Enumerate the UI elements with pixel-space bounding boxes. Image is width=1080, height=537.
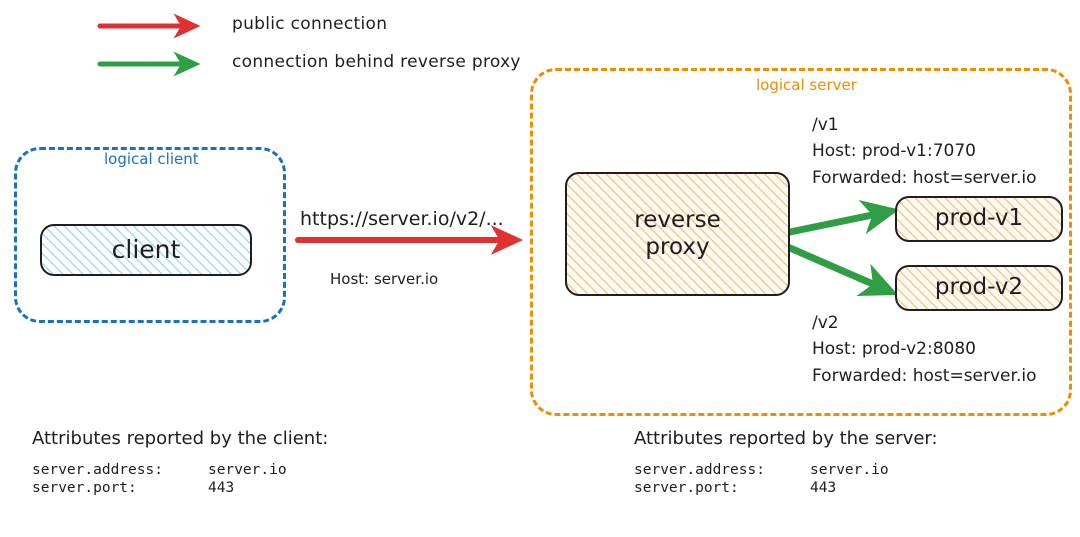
node-prod-v2[interactable]: prod-v2 <box>895 265 1063 311</box>
table-row: server.port: 443 <box>32 479 287 497</box>
public-request-url: https://server.io/v2/... <box>300 208 504 230</box>
route-v2-forwarded: Forwarded: host=server.io <box>812 363 1036 389</box>
route-v2-host: Host: prod-v2:8080 <box>812 336 1036 362</box>
route-v1-forwarded: Forwarded: host=server.io <box>812 165 1036 191</box>
client-attr-value-1: 443 <box>208 479 287 497</box>
table-row: server.port: 443 <box>634 479 889 497</box>
table-row: server.address: server.io <box>634 461 889 479</box>
diagram-canvas: public connection connection behind reve… <box>0 0 1080 537</box>
route-v1-path: /v1 <box>812 112 1036 138</box>
server-attr-key-0: server.address: <box>634 461 810 479</box>
legend-label-public-connection: public connection <box>232 14 387 34</box>
client-attributes-block: Attributes reported by the client: serve… <box>32 428 328 497</box>
legend-label-behind-proxy: connection behind reverse proxy <box>232 52 521 72</box>
node-reverse-proxy-label-line2: proxy <box>645 234 709 261</box>
node-reverse-proxy-label-line1: reverse <box>634 207 720 234</box>
route-v2-annotation: /v2 Host: prod-v2:8080 Forwarded: host=s… <box>812 310 1036 389</box>
client-attributes-title: Attributes reported by the client: <box>32 428 328 449</box>
public-request-host-header: Host: server.io <box>330 270 438 288</box>
client-attr-key-0: server.address: <box>32 461 208 479</box>
node-prod-v2-label: prod-v2 <box>935 274 1023 301</box>
server-attributes-title: Attributes reported by the server: <box>634 428 938 449</box>
table-row: server.address: server.io <box>32 461 287 479</box>
route-v1-host: Host: prod-v1:7070 <box>812 138 1036 164</box>
node-client-label: client <box>112 235 181 265</box>
node-reverse-proxy[interactable]: reverse proxy <box>565 172 790 296</box>
logical-server-group-title: logical server <box>748 76 865 94</box>
server-attr-value-1: 443 <box>810 479 889 497</box>
node-prod-v1-label: prod-v1 <box>935 205 1023 232</box>
node-client[interactable]: client <box>40 224 252 276</box>
client-attr-key-1: server.port: <box>32 479 208 497</box>
server-attr-value-0: server.io <box>810 461 889 479</box>
node-prod-v1[interactable]: prod-v1 <box>895 196 1063 242</box>
server-attributes-table: server.address: server.io server.port: 4… <box>634 461 889 497</box>
client-attr-value-0: server.io <box>208 461 287 479</box>
route-v2-path: /v2 <box>812 310 1036 336</box>
server-attr-key-1: server.port: <box>634 479 810 497</box>
logical-client-group-title: logical client <box>96 150 207 168</box>
client-attributes-table: server.address: server.io server.port: 4… <box>32 461 287 497</box>
route-v1-annotation: /v1 Host: prod-v1:7070 Forwarded: host=s… <box>812 112 1036 191</box>
server-attributes-block: Attributes reported by the server: serve… <box>634 428 938 497</box>
